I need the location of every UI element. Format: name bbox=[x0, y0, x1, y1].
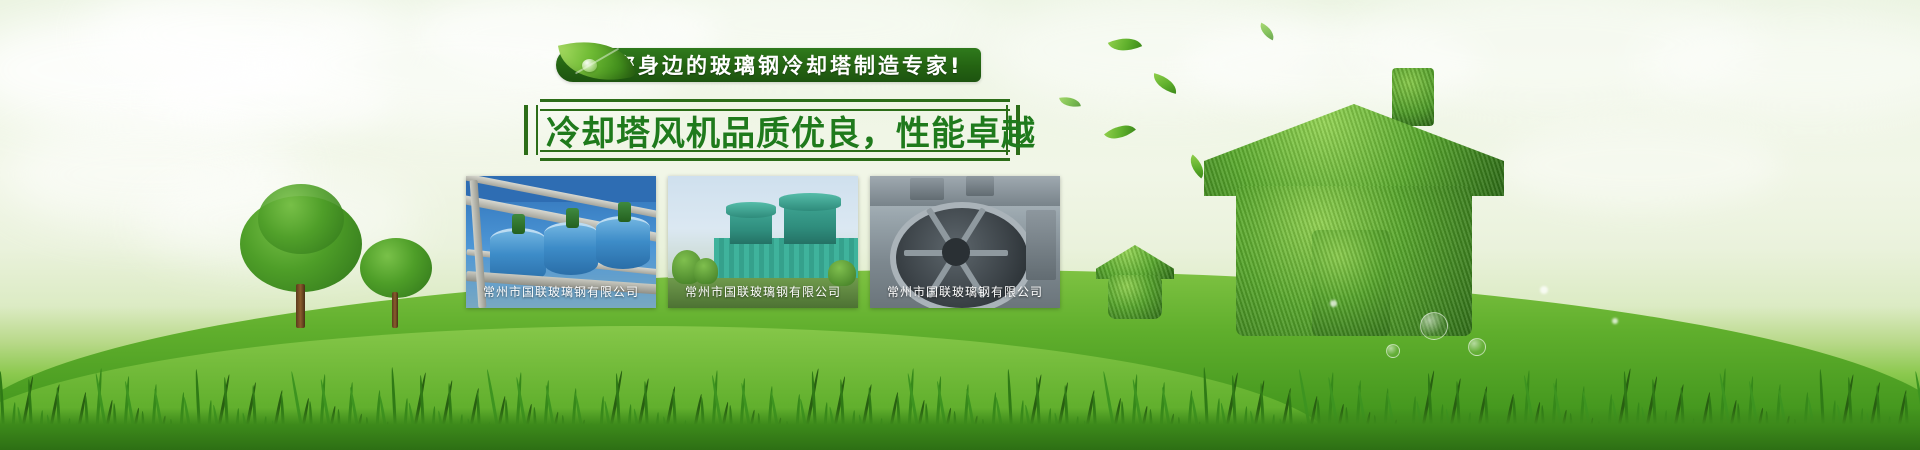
slogan-ribbon: 您身边的玻璃钢冷却塔制造专家! bbox=[556, 47, 981, 83]
sparkle-1 bbox=[1540, 286, 1548, 294]
grass-textured-house bbox=[1196, 62, 1516, 332]
sparkle-2 bbox=[1612, 318, 1618, 324]
large-tree bbox=[240, 196, 370, 326]
photo-industrial-fan-cooling-unit[interactable]: 常州市国联玻璃钢有限公司 bbox=[870, 176, 1060, 308]
photo-blue-water-treatment-tanks[interactable]: 常州市国联玻璃钢有限公司 bbox=[466, 176, 656, 308]
photo-watermark: 常州市国联玻璃钢有限公司 bbox=[668, 283, 858, 300]
sparkle-3 bbox=[1330, 300, 1337, 307]
headline-left-bar bbox=[524, 105, 538, 155]
page-title: 冷却塔风机品质优良，性能卓越 bbox=[546, 108, 1010, 152]
photo-green-cooling-tower-building[interactable]: 常州市国联玻璃钢有限公司 bbox=[668, 176, 858, 308]
small-tree bbox=[360, 238, 438, 330]
product-photo-gallery: 常州市国联玻璃钢有限公司 常州市国联玻璃钢有限公司 常州市国 bbox=[466, 176, 1060, 308]
grass-foreground bbox=[0, 408, 1920, 450]
small-grass-house bbox=[1096, 245, 1176, 321]
bubble-2 bbox=[1468, 338, 1486, 356]
slogan-text: 您身边的玻璃钢冷却塔制造专家! bbox=[614, 50, 963, 80]
photo-watermark: 常州市国联玻璃钢有限公司 bbox=[466, 283, 656, 300]
promo-banner: 您身边的玻璃钢冷却塔制造专家! 冷却塔风机品质优良，性能卓越 常州市国联玻璃钢有 bbox=[0, 0, 1920, 450]
headline-frame: 冷却塔风机品质优良，性能卓越 bbox=[524, 99, 1010, 161]
water-drop-icon bbox=[582, 59, 597, 72]
photo-watermark: 常州市国联玻璃钢有限公司 bbox=[870, 283, 1060, 300]
bubble-1 bbox=[1420, 312, 1448, 340]
